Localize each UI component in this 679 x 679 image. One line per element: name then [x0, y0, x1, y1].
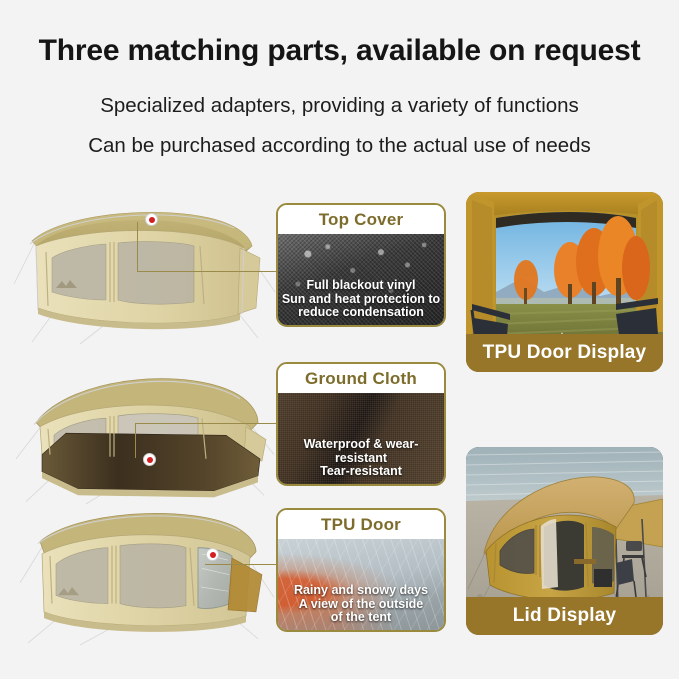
leader-line-horizontal-2 — [135, 423, 278, 424]
subtitle-line-2: Can be purchased according to the actual… — [0, 134, 679, 158]
feature-card-caption: Rainy and snowy days A view of the outsi… — [291, 584, 431, 625]
tent-tpu-door-graphic — [14, 496, 276, 646]
feature-card-top-cover[interactable]: Top Cover Full blackout vinyl Sun and he… — [276, 203, 446, 327]
feature-card-title: Top Cover — [278, 205, 444, 234]
photo-lid-display[interactable]: Lid Display — [466, 447, 663, 635]
caption-line: Tear-resistant — [281, 465, 441, 479]
tent-ground-cloth-graphic — [14, 356, 276, 506]
feature-card-title: TPU Door — [278, 510, 444, 539]
feature-card-ground-cloth[interactable]: Ground Cloth Waterproof & wear-resistant… — [276, 362, 446, 486]
infographic-canvas: Three matching parts, available on reque… — [0, 0, 679, 679]
feature-card-body: Rainy and snowy days A view of the outsi… — [278, 539, 444, 630]
feature-card-body: Waterproof & wear-resistant Tear-resista… — [278, 393, 444, 484]
tpu-door-marker-dot — [206, 548, 219, 561]
leader-line-horizontal-1 — [137, 271, 278, 272]
page-title: Three matching parts, available on reque… — [0, 34, 679, 68]
caption-line: Rainy and snowy days — [294, 584, 428, 598]
photo-tpu-door-display[interactable]: TPU Door Display — [466, 192, 663, 372]
ground-cloth-marker-dot — [143, 453, 156, 466]
caption-line: Waterproof & wear-resistant — [281, 438, 441, 465]
photo-caption-lid-display: Lid Display — [466, 597, 663, 635]
tent-illustration-ground-cloth — [14, 356, 276, 506]
leader-line-vertical-2 — [135, 424, 136, 458]
caption-line: Full blackout vinyl — [282, 279, 440, 293]
caption-line: Sun and heat protection to — [282, 293, 440, 307]
photo-caption-tpu-door-display: TPU Door Display — [466, 334, 663, 372]
caption-line: A view of the outside — [294, 598, 428, 612]
caption-line: of the tent — [294, 611, 428, 625]
feature-card-caption: Waterproof & wear-resistant Tear-resista… — [278, 438, 444, 479]
caption-line: reduce condensation — [282, 306, 440, 320]
leader-line-vertical-1 — [137, 222, 138, 272]
feature-card-caption: Full blackout vinyl Sun and heat protect… — [279, 279, 443, 320]
leader-line-horizontal-3 — [205, 564, 278, 565]
subtitle-line-1: Specialized adapters, providing a variet… — [0, 94, 679, 118]
feature-card-title: Ground Cloth — [278, 364, 444, 393]
tent-illustration-tpu-door — [14, 496, 276, 646]
feature-card-tpu-door[interactable]: TPU Door Rainy and snowy days A view of … — [276, 508, 446, 632]
feature-card-body: Full blackout vinyl Sun and heat protect… — [278, 234, 444, 325]
top-cover-marker-dot — [145, 213, 158, 226]
